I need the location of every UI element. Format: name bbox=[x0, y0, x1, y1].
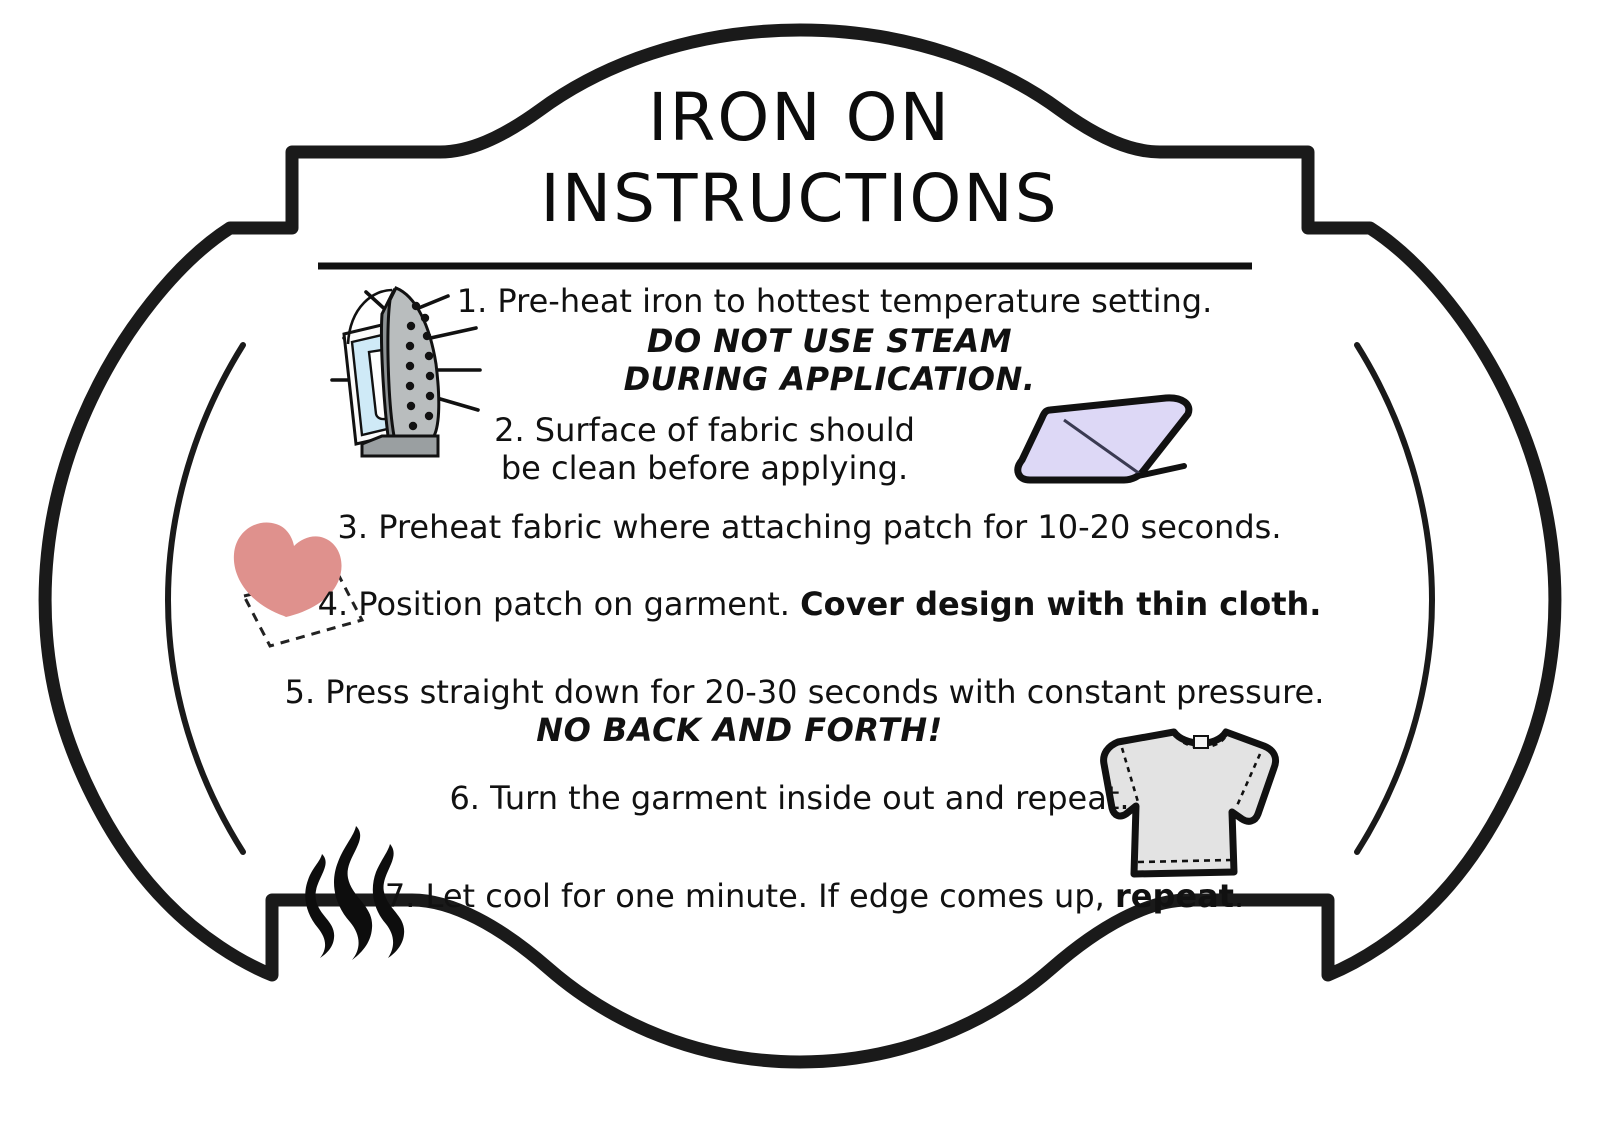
step-7-normal-text: 7. Let cool for one minute. If edge come… bbox=[385, 877, 1115, 915]
step-1-emphasis-line-1: DO NOT USE STEAM bbox=[0, 322, 1599, 360]
step-4-line: 4. Position patch on garment. Cover desi… bbox=[0, 585, 1599, 623]
step-1-line: 1. Pre-heat iron to hottest temperature … bbox=[0, 282, 1599, 320]
step-4-bold-text: Cover design with thin cloth. bbox=[800, 585, 1321, 623]
step-7-trailing-text: . bbox=[1234, 877, 1244, 915]
step-1-emphasis-line-2: DURING APPLICATION. bbox=[0, 360, 1599, 398]
step-2-line-1: 2. Surface of fabric should bbox=[0, 411, 1599, 449]
step-5-emphasis-line: NO BACK AND FORTH! bbox=[0, 711, 1599, 749]
step-7-bold-text: repeat bbox=[1115, 877, 1234, 915]
step-6-line: 6. Turn the garment inside out and repea… bbox=[0, 779, 1599, 817]
page-title: IRON ON INSTRUCTIONS bbox=[0, 78, 1599, 239]
step-7-line: 7. Let cool for one minute. If edge come… bbox=[0, 877, 1599, 915]
instructions-text-layer: IRON ON INSTRUCTIONS 1. Pre-heat iron to… bbox=[0, 0, 1599, 1127]
step-4-normal-text: 4. Position patch on garment. bbox=[318, 585, 801, 623]
step-3-line: 3. Preheat fabric where attaching patch … bbox=[0, 508, 1599, 546]
iron-on-instructions-card: IRON ON INSTRUCTIONS 1. Pre-heat iron to… bbox=[0, 0, 1599, 1127]
step-2-line-2: be clean before applying. bbox=[0, 449, 1599, 487]
step-5-line: 5. Press straight down for 20-30 seconds… bbox=[0, 673, 1599, 711]
